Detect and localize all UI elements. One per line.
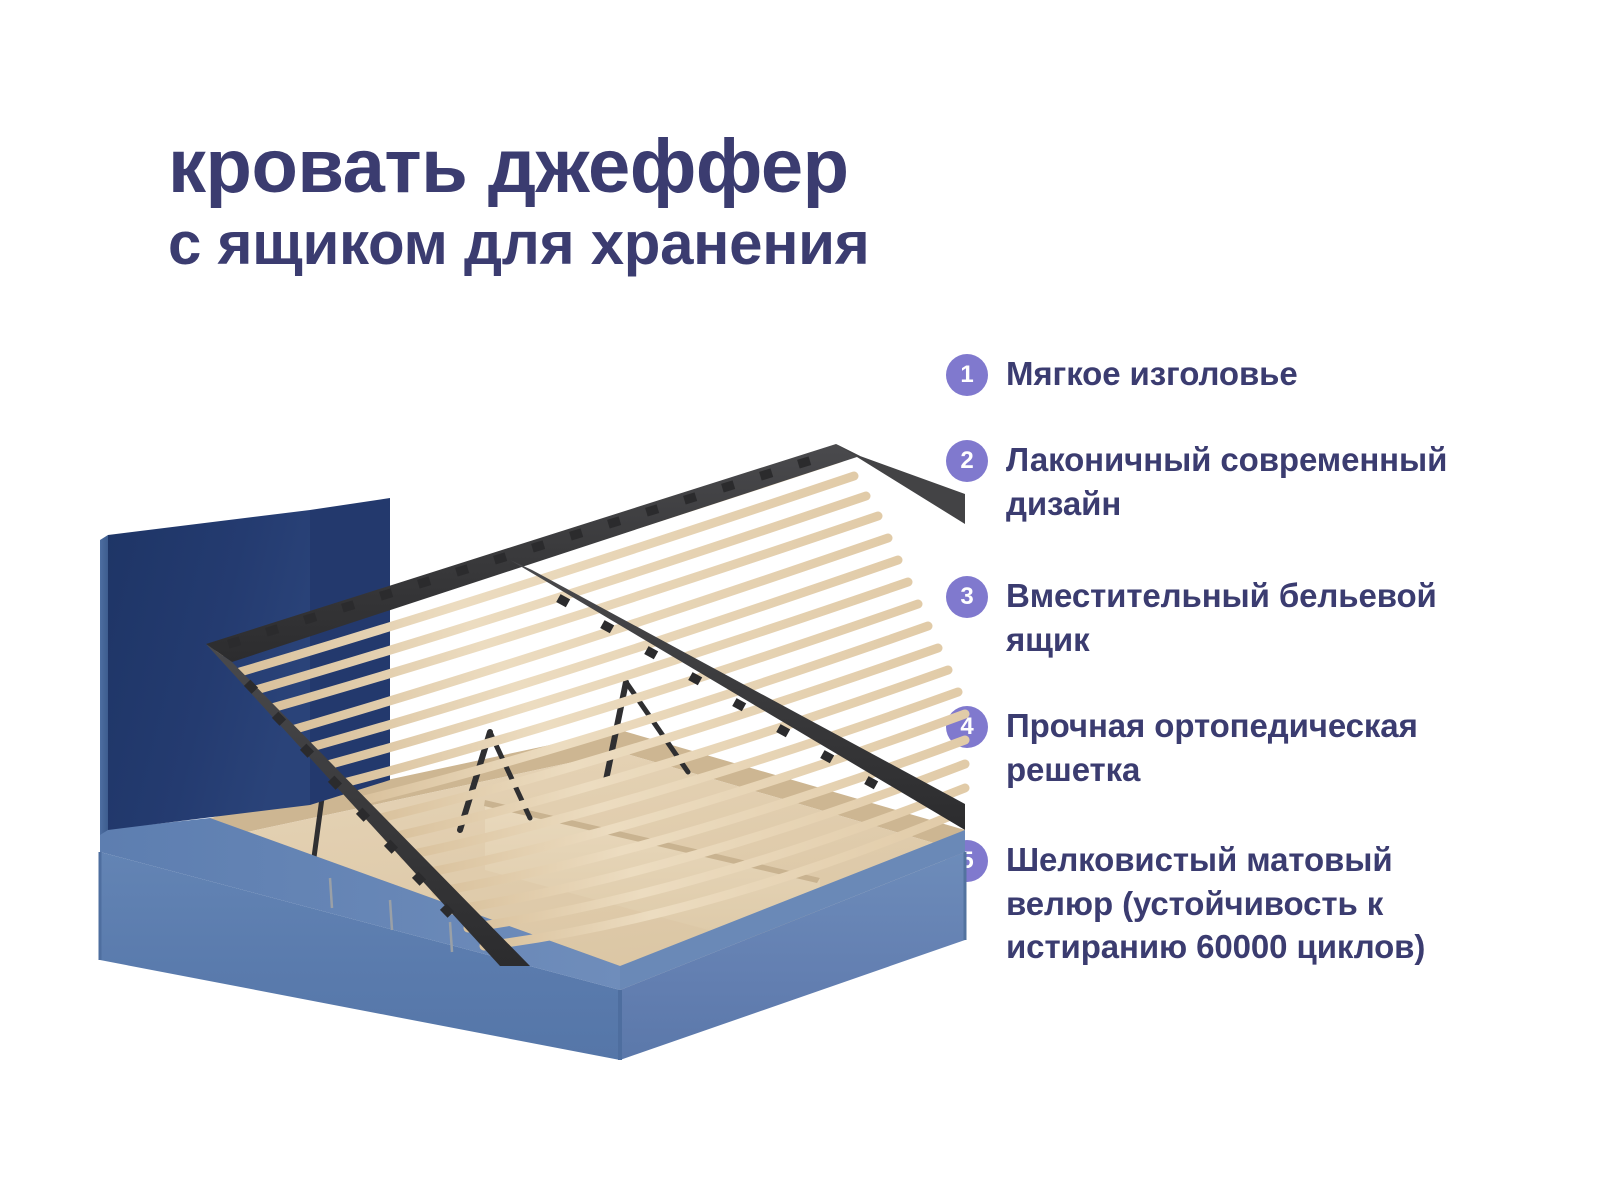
feature-item-3: 3 Вместительный бельевой ящик <box>946 574 1476 661</box>
title-line-2: с ящиком для хранения <box>168 212 1228 275</box>
feature-label-2: Лаконичный современный дизайн <box>1006 438 1476 525</box>
feature-label-4: Прочная ортопедическая решетка <box>1006 704 1476 791</box>
feature-item-2: 2 Лаконичный современный дизайн <box>946 438 1476 525</box>
infographic-canvas: кровать джеффер с ящиком для хранения 1 … <box>0 0 1600 1200</box>
headboard-side-edge <box>100 535 108 835</box>
feature-label-1: Мягкое изголовье <box>1006 352 1298 396</box>
bed-illustration <box>60 400 980 1060</box>
headboard-face <box>108 510 310 830</box>
page-title: кровать джеффер с ящиком для хранения <box>168 130 1228 275</box>
feature-item-5: 5 Шелковистый матовый велюр (устойчивост… <box>946 838 1476 969</box>
feature-item-1: 1 Мягкое изголовье <box>946 352 1298 396</box>
product-image <box>60 400 980 1060</box>
feature-item-4: 4 Прочная ортопедическая решетка <box>946 704 1476 791</box>
feature-label-5: Шелковистый матовый велюр (устойчивость … <box>1006 838 1476 969</box>
feature-label-3: Вместительный бельевой ящик <box>1006 574 1476 661</box>
title-line-1: кровать джеффер <box>168 130 1228 204</box>
feature-badge-1: 1 <box>946 354 988 396</box>
